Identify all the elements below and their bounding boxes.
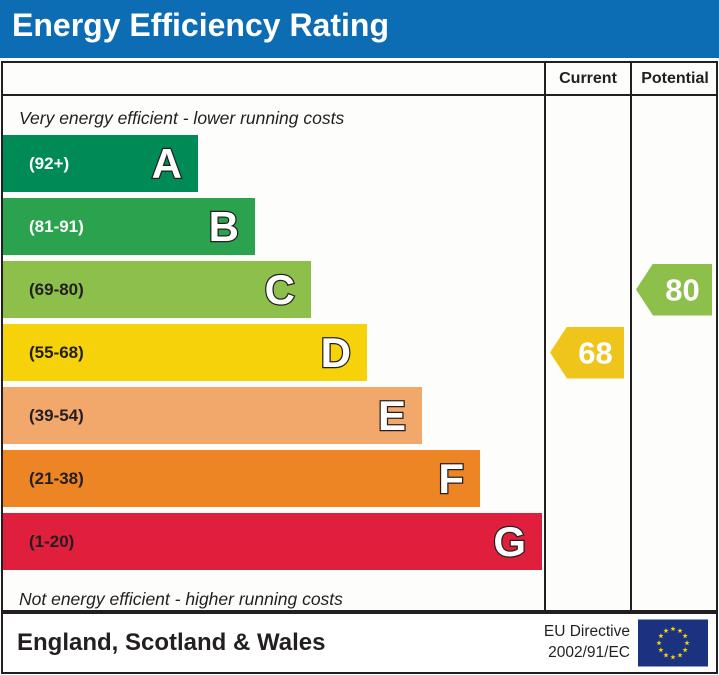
band-bar-f: (21-38) F bbox=[3, 450, 480, 507]
band-row-a: (92+) A bbox=[3, 135, 198, 192]
caption-not-efficient: Not energy efficient - higher running co… bbox=[19, 589, 343, 610]
footer-region-label: England, Scotland & Wales bbox=[17, 629, 325, 657]
page-title: Energy Efficiency Rating bbox=[12, 7, 389, 44]
band-range-a: (92+) bbox=[29, 154, 69, 174]
band-letter-d: D bbox=[321, 332, 351, 374]
band-letter-g: G bbox=[493, 521, 526, 563]
potential-rating-value: 80 bbox=[653, 274, 712, 305]
column-divider-potential bbox=[630, 96, 632, 612]
band-range-d: (55-68) bbox=[29, 343, 84, 363]
band-bar-g: (1-20) G bbox=[3, 513, 542, 570]
band-letter-c: C bbox=[265, 269, 295, 311]
rating-table: Current Potential Very energy efficient … bbox=[1, 61, 718, 612]
potential-rating-arrow: 80 bbox=[636, 264, 712, 316]
caption-very-efficient: Very energy efficient - lower running co… bbox=[19, 108, 344, 129]
band-letter-b: B bbox=[209, 206, 239, 248]
footer-directive-line1: EU Directive bbox=[544, 622, 630, 643]
band-row-c: (69-80) C bbox=[3, 261, 311, 318]
band-row-g: (1-20) G bbox=[3, 513, 542, 570]
chart-header-banner: Energy Efficiency Rating bbox=[0, 0, 719, 58]
band-bar-e: (39-54) E bbox=[3, 387, 422, 444]
band-row-d: (55-68) D bbox=[3, 324, 367, 381]
band-bar-b: (81-91) B bbox=[3, 198, 255, 255]
band-range-c: (69-80) bbox=[29, 280, 84, 300]
chart-footer: England, Scotland & Wales EU Directive 2… bbox=[1, 612, 718, 674]
eu-flag-icon bbox=[638, 620, 708, 667]
band-row-e: (39-54) E bbox=[3, 387, 422, 444]
footer-directive: EU Directive 2002/91/EC bbox=[544, 622, 630, 664]
band-range-e: (39-54) bbox=[29, 406, 84, 426]
column-header-potential: Potential bbox=[630, 63, 718, 94]
band-bars-group: (92+) A (81-91) B (69-80) C (55-68) bbox=[3, 135, 544, 585]
band-row-f: (21-38) F bbox=[3, 450, 480, 507]
energy-efficiency-rating-chart: Energy Efficiency Rating Current Potenti… bbox=[0, 0, 719, 675]
band-bar-d: (55-68) D bbox=[3, 324, 367, 381]
band-letter-a: A bbox=[152, 143, 182, 185]
band-letter-e: E bbox=[378, 395, 406, 437]
band-bar-a: (92+) A bbox=[3, 135, 198, 192]
table-column-headers: Current Potential bbox=[3, 63, 716, 96]
column-header-current: Current bbox=[544, 63, 630, 94]
band-range-b: (81-91) bbox=[29, 217, 84, 237]
column-divider-current bbox=[544, 96, 546, 612]
footer-directive-line2: 2002/91/EC bbox=[544, 643, 630, 664]
band-row-b: (81-91) B bbox=[3, 198, 255, 255]
current-rating-value: 68 bbox=[567, 337, 624, 368]
band-range-g: (1-20) bbox=[29, 532, 74, 552]
band-bar-c: (69-80) C bbox=[3, 261, 311, 318]
band-range-f: (21-38) bbox=[29, 469, 84, 489]
current-rating-arrow: 68 bbox=[550, 327, 624, 379]
band-letter-f: F bbox=[438, 458, 464, 500]
